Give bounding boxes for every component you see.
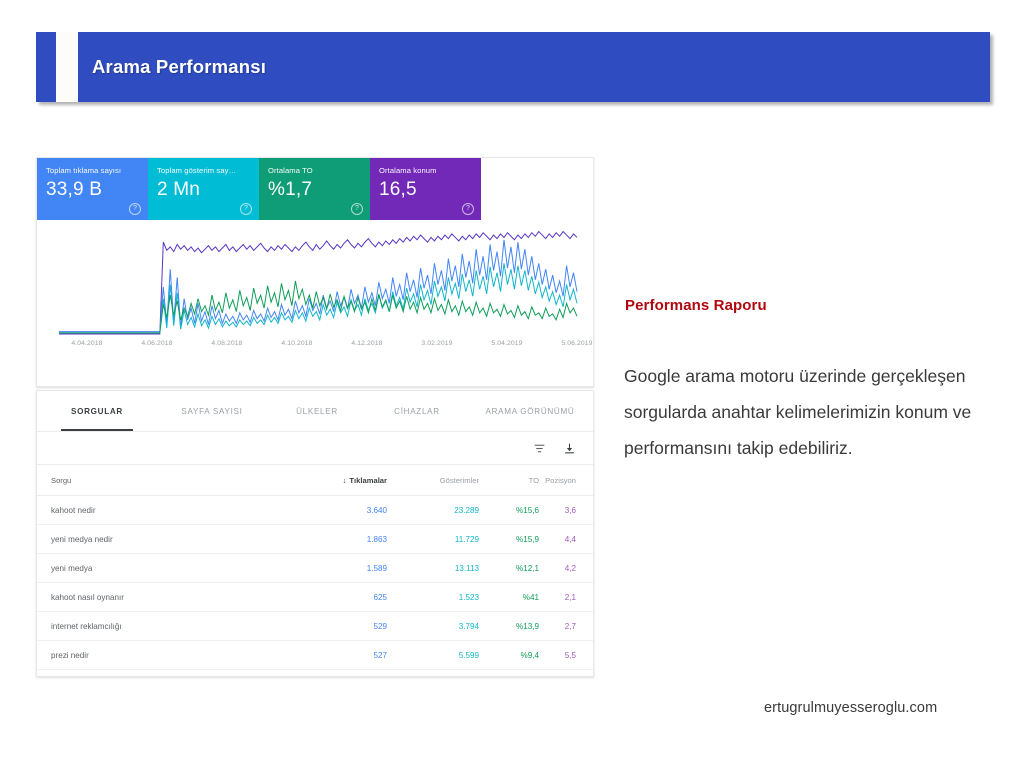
x-axis-tick: 5.06.2019 bbox=[552, 340, 602, 347]
x-axis-tick: 5.04.2019 bbox=[482, 340, 532, 347]
cell-ctr: %9,4 bbox=[479, 651, 539, 660]
cell-position: 2,7 bbox=[539, 622, 593, 631]
table-row[interactable]: kahoot nedir3.64023.289%15,63,6 bbox=[37, 496, 593, 525]
help-icon[interactable]: ? bbox=[351, 203, 363, 215]
cell-query: yeni medya nedir bbox=[37, 535, 287, 544]
help-icon[interactable]: ? bbox=[240, 203, 252, 215]
table-row[interactable]: yeni medya nedir1.86311.729%15,94,4 bbox=[37, 525, 593, 554]
tab-ci̇hazlar[interactable]: CİHAZLAR bbox=[367, 391, 467, 431]
cell-clicks: 3.640 bbox=[287, 506, 387, 515]
help-icon[interactable]: ? bbox=[462, 203, 474, 215]
cell-impressions: 1.523 bbox=[387, 593, 479, 602]
table-row[interactable]: internet reklamcılığı5293.794%13,92,7 bbox=[37, 612, 593, 641]
cell-ctr: %13,9 bbox=[479, 622, 539, 631]
metric-card-value: 2 Mn bbox=[157, 178, 250, 202]
metric-card-value: 33,9 B bbox=[46, 178, 139, 202]
tab-arama-görünümü[interactable]: ARAMA GÖRÜNÜMÜ bbox=[467, 391, 593, 431]
tab-ülkeler[interactable]: ÜLKELER bbox=[267, 391, 367, 431]
table-body: kahoot nedir3.64023.289%15,63,6yeni medy… bbox=[37, 496, 593, 670]
cell-clicks: 625 bbox=[287, 593, 387, 602]
sort-arrow-icon: ↓ bbox=[343, 476, 347, 485]
cell-impressions: 5.599 bbox=[387, 651, 479, 660]
queries-table-panel: SORGULARSAYFA SAYISIÜLKELERCİHAZLARARAMA… bbox=[36, 390, 594, 677]
column-header-clicks-label: Tıklamalar bbox=[349, 476, 387, 485]
cell-ctr: %12,1 bbox=[479, 564, 539, 573]
header-accent-notch bbox=[56, 32, 78, 102]
metric-card-label: Ortalama konum bbox=[379, 166, 472, 176]
cell-clicks: 1.589 bbox=[287, 564, 387, 573]
cell-impressions: 3.794 bbox=[387, 622, 479, 631]
column-header-impressions[interactable]: Gösterimler bbox=[387, 476, 479, 485]
search-performance-chart-panel: Toplam tıklama sayısı33,9 B?Toplam göste… bbox=[36, 157, 594, 387]
performance-chart-svg bbox=[37, 220, 593, 338]
x-axis-tick: 4.12.2018 bbox=[342, 340, 392, 347]
metric-card-label: Toplam gösterim say… bbox=[157, 166, 250, 176]
filter-icon[interactable] bbox=[533, 442, 546, 455]
x-axis-tick: 4.10.2018 bbox=[272, 340, 322, 347]
table-row[interactable]: prezi nedir5275.599%9,45,5 bbox=[37, 641, 593, 670]
x-axis-tick: 4.06.2018 bbox=[132, 340, 182, 347]
cell-position: 4,2 bbox=[539, 564, 593, 573]
cell-position: 4,4 bbox=[539, 535, 593, 544]
slide-header: Arama Performansı bbox=[36, 32, 990, 102]
metric-card-1[interactable]: Toplam gösterim say…2 Mn? bbox=[148, 158, 259, 220]
metric-card-2[interactable]: Ortalama TO%1,7? bbox=[259, 158, 370, 220]
cell-query: internet reklamcılığı bbox=[37, 622, 287, 631]
report-title: Performans Raporu bbox=[625, 297, 767, 314]
x-axis-tick: 4.04.2018 bbox=[62, 340, 112, 347]
cell-ctr: %41 bbox=[479, 593, 539, 602]
chart-series-line bbox=[59, 281, 577, 333]
table-row[interactable]: kahoot nasıl oynanır6251.523%412,1 bbox=[37, 583, 593, 612]
cell-query: kahoot nedir bbox=[37, 506, 287, 515]
x-axis-tick: 4.08.2018 bbox=[202, 340, 252, 347]
column-header-clicks[interactable]: ↓Tıklamalar bbox=[287, 476, 387, 485]
page-title: Arama Performansı bbox=[92, 32, 266, 102]
metric-card-3[interactable]: Ortalama konum16,5? bbox=[370, 158, 481, 220]
chart-x-axis: 4.04.20184.06.20184.08.20184.10.20184.12… bbox=[37, 340, 593, 358]
cell-ctr: %15,9 bbox=[479, 535, 539, 544]
cell-query: yeni medya bbox=[37, 564, 287, 573]
cell-position: 5,5 bbox=[539, 651, 593, 660]
metric-card-value: %1,7 bbox=[268, 178, 361, 202]
download-icon[interactable] bbox=[563, 442, 576, 455]
column-header-position[interactable]: Pozisyon bbox=[539, 476, 593, 485]
table-toolbar bbox=[37, 432, 593, 465]
cell-impressions: 11.729 bbox=[387, 535, 479, 544]
metric-card-0[interactable]: Toplam tıklama sayısı33,9 B? bbox=[37, 158, 148, 220]
cell-position: 3,6 bbox=[539, 506, 593, 515]
cell-impressions: 13.113 bbox=[387, 564, 479, 573]
cell-query: prezi nedir bbox=[37, 651, 287, 660]
metric-cards: Toplam tıklama sayısı33,9 B?Toplam göste… bbox=[37, 158, 481, 220]
cell-clicks: 529 bbox=[287, 622, 387, 631]
cell-impressions: 23.289 bbox=[387, 506, 479, 515]
column-header-ctr[interactable]: TO bbox=[479, 476, 539, 485]
help-icon[interactable]: ? bbox=[129, 203, 141, 215]
tab-sayfa-sayisi[interactable]: SAYFA SAYISI bbox=[157, 391, 267, 431]
table-header-row: Sorgu ↓Tıklamalar Gösterimler TO Pozisyo… bbox=[37, 465, 593, 496]
cell-query: kahoot nasıl oynanır bbox=[37, 593, 287, 602]
table-tabs: SORGULARSAYFA SAYISIÜLKELERCİHAZLARARAMA… bbox=[37, 391, 593, 431]
footer-url: ertugrulmuyesseroglu.com bbox=[764, 700, 937, 716]
x-axis-tick: 3.02.2019 bbox=[412, 340, 462, 347]
report-description: Google arama motoru üzerinde gerçekleşen… bbox=[624, 358, 1004, 466]
cell-clicks: 527 bbox=[287, 651, 387, 660]
cell-clicks: 1.863 bbox=[287, 535, 387, 544]
column-header-query[interactable]: Sorgu bbox=[37, 476, 287, 485]
table-row[interactable]: yeni medya1.58913.113%12,14,2 bbox=[37, 554, 593, 583]
cell-ctr: %15,6 bbox=[479, 506, 539, 515]
metric-card-label: Toplam tıklama sayısı bbox=[46, 166, 139, 176]
cell-position: 2,1 bbox=[539, 593, 593, 602]
performance-chart bbox=[37, 220, 593, 338]
metric-card-label: Ortalama TO bbox=[268, 166, 361, 176]
metric-card-value: 16,5 bbox=[379, 178, 472, 202]
tab-sorgular[interactable]: SORGULAR bbox=[37, 391, 157, 431]
